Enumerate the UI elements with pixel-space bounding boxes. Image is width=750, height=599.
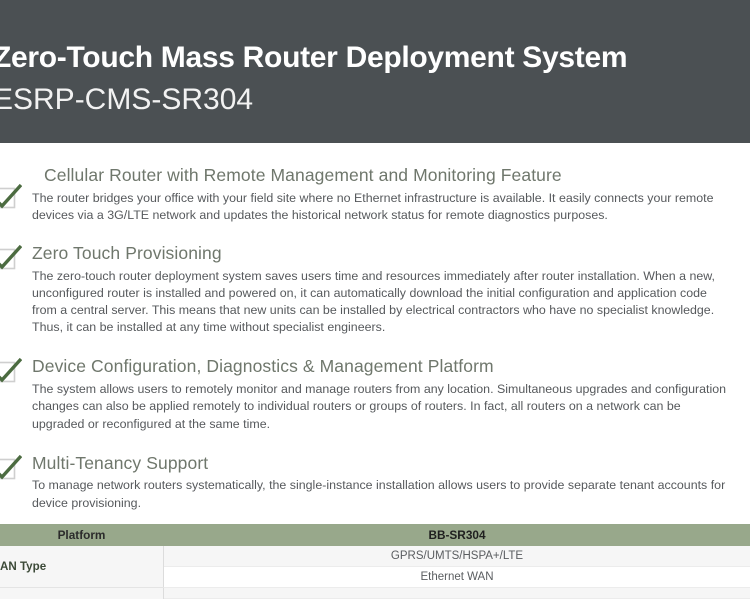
check-box-icon (0, 182, 22, 212)
table-header-model: BB-SR304 (164, 524, 750, 546)
feature-heading: Zero Touch Provisioning (32, 243, 732, 265)
feature-item: Device Configuration, Diagnostics & Mana… (0, 356, 750, 432)
table-cell: GPRS/UMTS/HSPA+/LTE (164, 546, 750, 567)
feature-list: Cellular Router with Remote Management a… (0, 143, 750, 512)
feature-body: The router bridges your office with your… (32, 190, 732, 224)
check-box-icon (0, 453, 22, 483)
check-box-icon (0, 243, 22, 273)
page-header-banner: Zero-Touch Mass Router Deployment System… (0, 0, 750, 143)
feature-heading: Cellular Router with Remote Management a… (32, 165, 732, 187)
table-row: AN Type GPRS/UMTS/HSPA+/LTE (0, 546, 750, 567)
feature-item: Cellular Router with Remote Management a… (0, 165, 750, 224)
table-header-row: Platform BB-SR304 (0, 524, 750, 546)
feature-body: The zero-touch router deployment system … (32, 268, 732, 336)
feature-item: Multi-Tenancy Support To manage network … (0, 453, 750, 512)
table-cell-partial (164, 588, 750, 599)
page-title: Zero-Touch Mass Router Deployment System (0, 40, 627, 76)
table-row-partial (0, 588, 750, 599)
table-row-label-wan-type: AN Type (0, 546, 164, 588)
feature-body: To manage network routers systematically… (32, 477, 732, 511)
feature-item: Zero Touch Provisioning The zero-touch r… (0, 243, 750, 336)
feature-heading: Multi-Tenancy Support (32, 453, 732, 475)
table-row-label-partial (0, 588, 164, 599)
table-header-platform: Platform (0, 524, 164, 546)
feature-heading: Device Configuration, Diagnostics & Mana… (32, 356, 732, 378)
check-box-icon (0, 356, 22, 386)
table-cell: Ethernet WAN (164, 567, 750, 588)
feature-body: The system allows users to remotely moni… (32, 381, 732, 432)
specification-table: Platform BB-SR304 AN Type GPRS/UMTS/HSPA… (0, 524, 750, 599)
page-subtitle-model: ESRP-CMS-SR304 (0, 82, 253, 118)
